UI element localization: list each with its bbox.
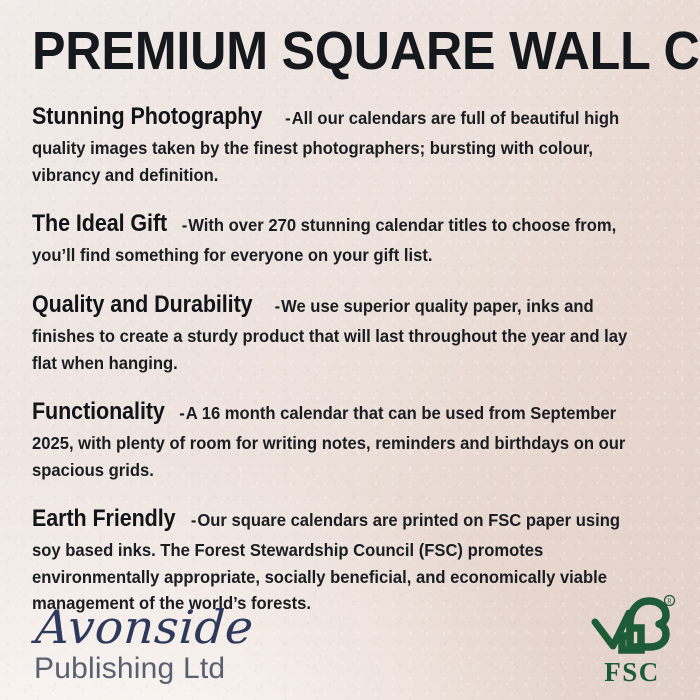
feature-heading: Stunning Photography	[32, 98, 262, 135]
poster-footer: Avonside Publishing Ltd R FSC	[0, 582, 700, 700]
feature-heading: Functionality	[32, 393, 165, 430]
fsc-logo: R FSC	[586, 594, 678, 686]
feature-dash: -	[272, 296, 281, 316]
fsc-tree-checkmark-icon: R	[586, 594, 678, 661]
brand-subtitle: Publishing Ltd	[34, 653, 248, 685]
feature-item-functionality: Functionality-A 16 month calendar that c…	[32, 393, 639, 483]
feature-item-stunning-photography: Stunning Photography-All our calendars a…	[32, 98, 639, 188]
feature-dash: -	[179, 215, 188, 235]
feature-dash: -	[188, 510, 197, 530]
feature-item-quality-and-durability: Quality and Durability-We use superior q…	[32, 286, 639, 376]
feature-list: Stunning Photography-All our calendars a…	[32, 98, 668, 617]
brand-name: Avonside	[34, 604, 255, 650]
feature-dash: -	[282, 108, 291, 128]
brand-logo: Avonside Publishing Ltd	[34, 604, 248, 685]
svg-text:R: R	[667, 598, 672, 606]
poster-canvas: PREMIUM SQUARE WALL CALENDARS Stunning P…	[0, 0, 700, 700]
page-title: PREMIUM SQUARE WALL CALENDARS	[32, 0, 623, 78]
feature-item-the-ideal-gift: The Ideal Gift-With over 270 stunning ca…	[32, 205, 639, 269]
feature-heading: Quality and Durability	[32, 286, 253, 323]
poster-content: PREMIUM SQUARE WALL CALENDARS Stunning P…	[0, 0, 700, 617]
feature-dash: -	[176, 403, 185, 423]
fsc-label: FSC	[586, 659, 678, 686]
feature-heading: Earth Friendly	[32, 500, 176, 537]
feature-heading: The Ideal Gift	[32, 205, 167, 242]
